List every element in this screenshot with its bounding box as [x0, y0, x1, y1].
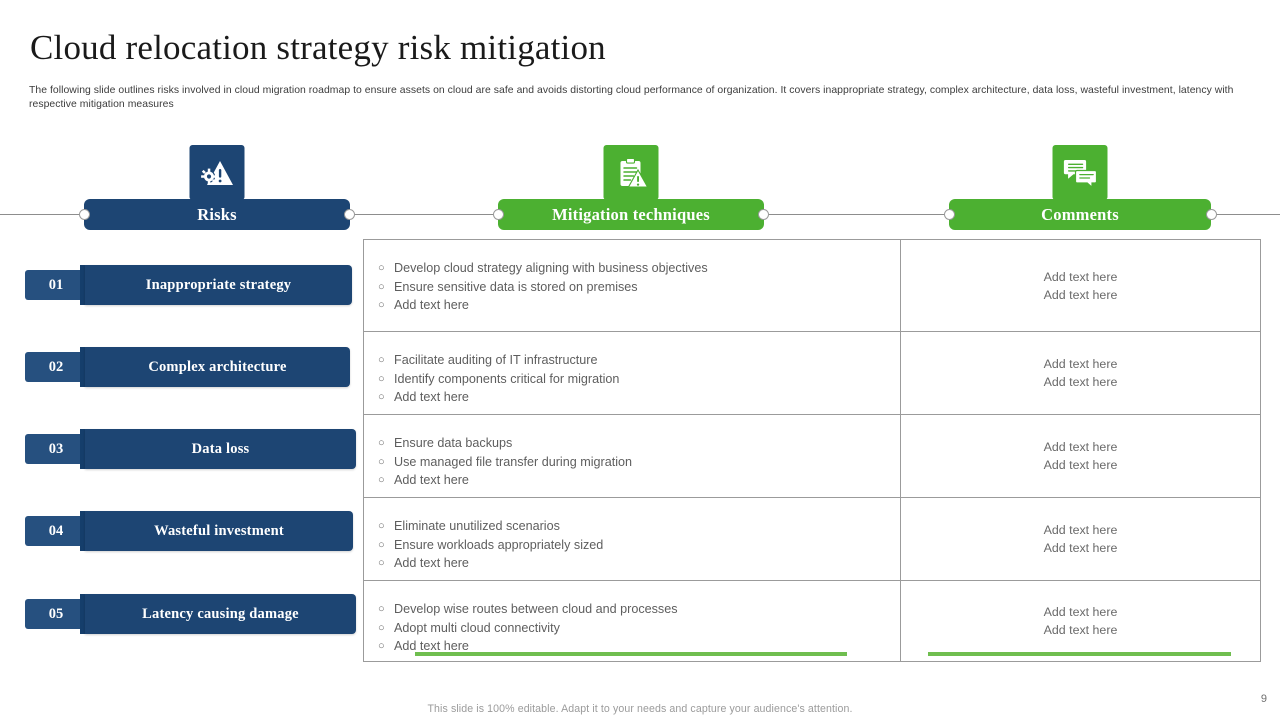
list-item: ○Add text here [378, 388, 890, 406]
page-number: 9 [1261, 693, 1267, 705]
list-item: ○Use managed file transfer during migrat… [378, 453, 890, 471]
risk-number-03: 03 [25, 434, 87, 464]
mitigation-cell[interactable]: ○Develop wise routes between cloud and p… [364, 581, 901, 661]
bullet-circle-icon: ○ [378, 471, 394, 489]
list-item-text: Develop wise routes between cloud and pr… [394, 600, 678, 618]
list-item: ○Add text here [378, 554, 890, 572]
list-item-text: Identify components critical for migrati… [394, 370, 619, 388]
comment-line: Add text here [1044, 539, 1118, 557]
table-row: ○Ensure data backups ○Use managed file t… [364, 415, 1260, 498]
column-head-mitigation[interactable]: Mitigation techniques [498, 199, 764, 230]
comment-line: Add text here [1044, 286, 1118, 304]
bullet-circle-icon: ○ [378, 351, 394, 369]
list-item-text: Ensure data backups [394, 434, 512, 452]
column-head-label-comments: Comments [949, 199, 1211, 230]
list-item: ○Add text here [378, 296, 890, 314]
bullet-circle-icon: ○ [378, 600, 394, 618]
list-item: ○Develop wise routes between cloud and p… [378, 600, 890, 618]
bullet-circle-icon: ○ [378, 536, 394, 554]
comments-cell[interactable]: Add text here Add text here [901, 332, 1260, 414]
mitigation-cell[interactable]: ○Develop cloud strategy aligning with bu… [364, 240, 901, 331]
bullet-circle-icon: ○ [378, 637, 394, 655]
comment-line: Add text here [1044, 456, 1118, 474]
list-item: ○Eliminate unutilized scenarios [378, 517, 890, 535]
list-item-text: Develop cloud strategy aligning with bus… [394, 259, 708, 277]
list-item: ○Identify components critical for migrat… [378, 370, 890, 388]
bullet-circle-icon: ○ [378, 619, 394, 637]
list-item-text: Add text here [394, 388, 469, 406]
risk-number-04: 04 [25, 516, 87, 546]
risk-label-02: Complex architecture [85, 347, 350, 387]
rail-dot-left-mitigation [493, 209, 504, 220]
rail-dot-right-comments [1206, 209, 1217, 220]
table-row: ○Develop wise routes between cloud and p… [364, 581, 1260, 661]
risk-number-02: 02 [25, 352, 87, 382]
bullet-circle-icon: ○ [378, 453, 394, 471]
list-item: ○Facilitate auditing of IT infrastructur… [378, 351, 890, 369]
list-item: ○Adopt multi cloud connectivity [378, 619, 890, 637]
list-item: ○Ensure data backups [378, 434, 890, 452]
list-item-text: Eliminate unutilized scenarios [394, 517, 560, 535]
rail-dot-right-mitigation [758, 209, 769, 220]
footer-note: This slide is 100% editable. Adapt it to… [0, 703, 1280, 715]
bullet-circle-icon: ○ [378, 278, 394, 296]
risk-label-01: Inappropriate strategy [85, 265, 352, 305]
clipboard-alert-icon [604, 145, 659, 200]
comments-cell[interactable]: Add text here Add text here [901, 240, 1260, 331]
bullet-circle-icon: ○ [378, 370, 394, 388]
mitigation-cell[interactable]: ○Eliminate unutilized scenarios ○Ensure … [364, 498, 901, 580]
risk-ribbon-03[interactable]: 03 Data loss [25, 429, 356, 469]
risk-label-04: Wasteful investment [85, 511, 353, 551]
comments-cell[interactable]: Add text here Add text here [901, 498, 1260, 580]
bullet-circle-icon: ○ [378, 259, 394, 277]
list-item-text: Facilitate auditing of IT infrastructure [394, 351, 597, 369]
comment-line: Add text here [1044, 438, 1118, 456]
accent-bar-mitigation [415, 652, 847, 656]
list-item-text: Adopt multi cloud connectivity [394, 619, 560, 637]
warning-gear-icon [190, 145, 245, 200]
list-item-text: Ensure sensitive data is stored on premi… [394, 278, 638, 296]
risk-mitigation-table: ○Develop cloud strategy aligning with bu… [363, 239, 1261, 662]
bullet-circle-icon: ○ [378, 554, 394, 572]
risk-number-01: 01 [25, 270, 87, 300]
list-item-text: Add text here [394, 554, 469, 572]
page-title: Cloud relocation strategy risk mitigatio… [30, 28, 606, 68]
risk-ribbon-05[interactable]: 05 Latency causing damage [25, 594, 356, 634]
table-row: ○Develop cloud strategy aligning with bu… [364, 240, 1260, 332]
comment-line: Add text here [1044, 603, 1118, 621]
list-item: ○Develop cloud strategy aligning with bu… [378, 259, 890, 277]
risk-label-05: Latency causing damage [85, 594, 356, 634]
comment-line: Add text here [1044, 268, 1118, 286]
accent-bar-comments [928, 652, 1231, 656]
list-item: ○Ensure sensitive data is stored on prem… [378, 278, 890, 296]
column-head-risks[interactable]: Risks [84, 199, 350, 230]
column-head-label-risks: Risks [84, 199, 350, 230]
bullet-circle-icon: ○ [378, 296, 394, 314]
comment-line: Add text here [1044, 521, 1118, 539]
risk-ribbon-04[interactable]: 04 Wasteful investment [25, 511, 353, 551]
rail-dot-left-comments [944, 209, 955, 220]
comment-line: Add text here [1044, 355, 1118, 373]
bullet-circle-icon: ○ [378, 517, 394, 535]
page-subtitle: The following slide outlines risks invol… [29, 84, 1244, 112]
speech-bubbles-icon [1053, 145, 1108, 200]
rail-dot-left-risks [79, 209, 90, 220]
list-item-text: Ensure workloads appropriately sized [394, 536, 603, 554]
list-item-text: Use managed file transfer during migrati… [394, 453, 632, 471]
comments-cell[interactable]: Add text here Add text here [901, 581, 1260, 661]
column-head-label-mitigation: Mitigation techniques [498, 199, 764, 230]
list-item: ○Add text here [378, 471, 890, 489]
bullet-circle-icon: ○ [378, 388, 394, 406]
comment-line: Add text here [1044, 621, 1118, 639]
risk-number-05: 05 [25, 599, 87, 629]
risk-ribbon-02[interactable]: 02 Complex architecture [25, 347, 350, 387]
risk-label-03: Data loss [85, 429, 356, 469]
mitigation-cell[interactable]: ○Facilitate auditing of IT infrastructur… [364, 332, 901, 414]
mitigation-cell[interactable]: ○Ensure data backups ○Use managed file t… [364, 415, 901, 497]
list-item-text: Add text here [394, 471, 469, 489]
bullet-circle-icon: ○ [378, 434, 394, 452]
table-row: ○Eliminate unutilized scenarios ○Ensure … [364, 498, 1260, 581]
comment-line: Add text here [1044, 373, 1118, 391]
column-head-comments[interactable]: Comments [949, 199, 1211, 230]
table-row: ○Facilitate auditing of IT infrastructur… [364, 332, 1260, 415]
list-item-text: Add text here [394, 296, 469, 314]
rail-dot-right-risks [344, 209, 355, 220]
list-item: ○Ensure workloads appropriately sized [378, 536, 890, 554]
comments-cell[interactable]: Add text here Add text here [901, 415, 1260, 497]
risk-ribbon-01[interactable]: 01 Inappropriate strategy [25, 265, 352, 305]
